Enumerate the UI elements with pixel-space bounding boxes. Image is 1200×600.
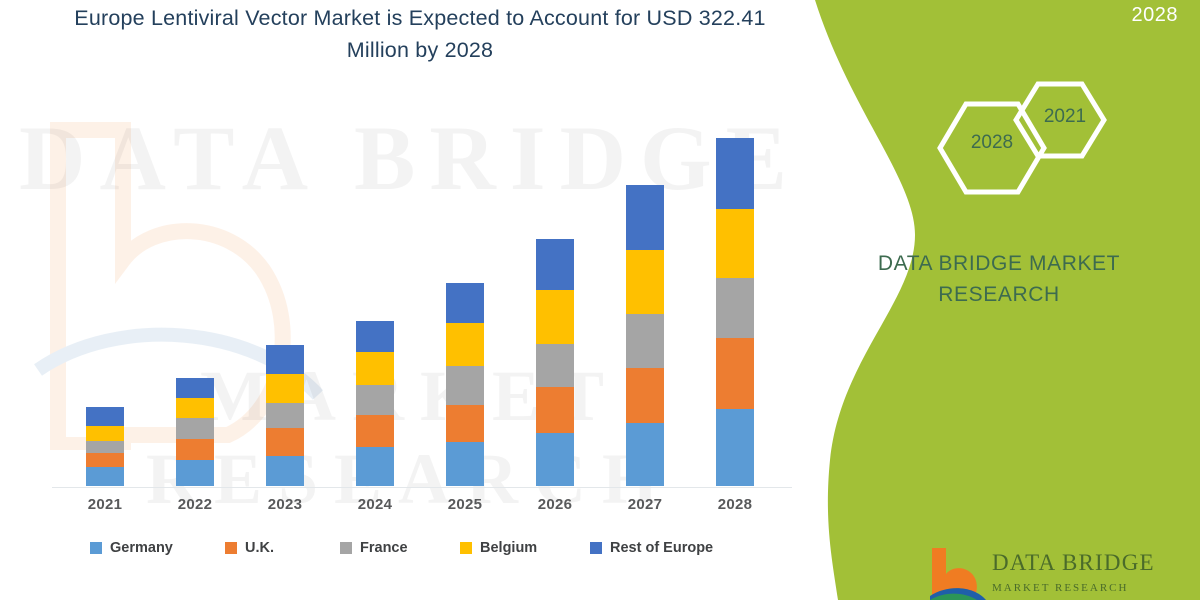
bar-segment-u-k[interactable] — [266, 428, 304, 456]
bar-segment-belgium[interactable] — [176, 398, 214, 418]
x-axis-label-2024: 2024 — [330, 496, 420, 513]
page-title: Europe Lentiviral Vector Market is Expec… — [70, 2, 770, 66]
bar-segment-rest-of-europe[interactable] — [716, 138, 754, 209]
legend-item-rest-of-europe[interactable]: Rest of Europe — [590, 540, 713, 556]
bar-segment-belgium[interactable] — [266, 374, 304, 403]
bar-segment-france[interactable] — [356, 385, 394, 415]
x-axis-label-2028: 2028 — [690, 496, 780, 513]
bar-segment-belgium[interactable] — [626, 250, 664, 314]
bar-segment-germany[interactable] — [266, 456, 304, 486]
legend-swatch-icon — [225, 542, 237, 554]
bar-segment-u-k[interactable] — [86, 453, 124, 466]
chart-legend: GermanyU.K.FranceBelgiumRest of Europe — [60, 540, 780, 566]
bar-segment-france[interactable] — [536, 344, 574, 387]
company-name: DATA BRIDGE MARKET RESEARCH — [834, 248, 1164, 310]
data-bridge-logo: DATA BRIDGE MARKET RESEARCH — [926, 538, 1176, 600]
bar-segment-rest-of-europe[interactable] — [86, 407, 124, 426]
legend-swatch-icon — [90, 542, 102, 554]
year-badge-top: 2028 — [1132, 4, 1179, 27]
chart-region: DATA BRIDGE MARKET RESEARCH Europe Lenti… — [0, 0, 820, 600]
bar-segment-u-k[interactable] — [356, 415, 394, 447]
bar-segment-rest-of-europe[interactable] — [446, 283, 484, 323]
bar-segment-u-k[interactable] — [536, 387, 574, 433]
hexagon-2028-label: 2028 — [950, 132, 1034, 154]
bar-segment-germany[interactable] — [536, 433, 574, 486]
legend-label: France — [360, 540, 408, 556]
bar-2021[interactable] — [86, 407, 124, 486]
x-axis-label-2021: 2021 — [60, 496, 150, 513]
legend-label: Belgium — [480, 540, 537, 556]
legend-item-france[interactable]: France — [340, 540, 408, 556]
bar-segment-u-k[interactable] — [716, 338, 754, 409]
x-axis-labels: 20212022202320242025202620272028 — [60, 496, 780, 522]
bar-segment-rest-of-europe[interactable] — [266, 345, 304, 374]
x-axis-line — [52, 487, 792, 488]
bar-segment-belgium[interactable] — [716, 209, 754, 278]
bar-segment-germany[interactable] — [716, 409, 754, 486]
bar-segment-germany[interactable] — [626, 423, 664, 486]
bar-segment-france[interactable] — [626, 314, 664, 368]
company-name-line2: RESEARCH — [834, 279, 1164, 310]
x-axis-label-2022: 2022 — [150, 496, 240, 513]
legend-item-belgium[interactable]: Belgium — [460, 540, 537, 556]
bar-2022[interactable] — [176, 378, 214, 486]
legend-label: Germany — [110, 540, 173, 556]
bar-2026[interactable] — [536, 239, 574, 486]
bar-segment-u-k[interactable] — [176, 439, 214, 460]
bar-segment-france[interactable] — [176, 418, 214, 439]
legend-swatch-icon — [460, 542, 472, 554]
x-axis-label-2026: 2026 — [510, 496, 600, 513]
bar-segment-france[interactable] — [86, 441, 124, 453]
bar-segment-belgium[interactable] — [446, 323, 484, 366]
bar-segment-belgium[interactable] — [536, 290, 574, 343]
bar-segment-u-k[interactable] — [626, 368, 664, 423]
plot-area — [60, 120, 780, 486]
bar-2027[interactable] — [626, 185, 664, 486]
bar-segment-germany[interactable] — [446, 442, 484, 486]
legend-label: Rest of Europe — [610, 540, 713, 556]
bar-segment-rest-of-europe[interactable] — [626, 185, 664, 250]
hexagon-group: 2028 2021 — [928, 78, 1128, 218]
bar-segment-u-k[interactable] — [446, 405, 484, 442]
x-axis-label-2027: 2027 — [600, 496, 690, 513]
legend-item-u-k[interactable]: U.K. — [225, 540, 274, 556]
legend-label: U.K. — [245, 540, 274, 556]
bar-2023[interactable] — [266, 345, 304, 486]
bar-segment-rest-of-europe[interactable] — [356, 321, 394, 352]
logo-tagline: MARKET RESEARCH — [992, 582, 1128, 594]
bar-segment-belgium[interactable] — [86, 426, 124, 441]
bar-segment-belgium[interactable] — [356, 352, 394, 386]
x-axis-label-2023: 2023 — [240, 496, 330, 513]
bar-segment-france[interactable] — [716, 278, 754, 337]
legend-swatch-icon — [340, 542, 352, 554]
logo-name: DATA BRIDGE — [992, 550, 1155, 576]
company-name-line1: DATA BRIDGE MARKET — [834, 248, 1164, 279]
bar-segment-germany[interactable] — [176, 460, 214, 486]
legend-item-germany[interactable]: Germany — [90, 540, 173, 556]
bar-segment-france[interactable] — [446, 366, 484, 405]
bar-segment-france[interactable] — [266, 403, 304, 429]
bar-2028[interactable] — [716, 138, 754, 486]
bar-segment-rest-of-europe[interactable] — [176, 378, 214, 398]
legend-swatch-icon — [590, 542, 602, 554]
bar-segment-germany[interactable] — [356, 447, 394, 486]
bar-segment-rest-of-europe[interactable] — [536, 239, 574, 290]
infographic-canvas: 2028 2028 2021 DATA BRIDGE MARKET RESEAR… — [0, 0, 1200, 600]
bar-segment-germany[interactable] — [86, 467, 124, 486]
b-logo-icon — [926, 544, 986, 600]
x-axis-label-2025: 2025 — [420, 496, 510, 513]
hexagon-2021-label: 2021 — [1026, 106, 1104, 128]
bar-2025[interactable] — [446, 283, 484, 486]
bar-2024[interactable] — [356, 321, 394, 486]
